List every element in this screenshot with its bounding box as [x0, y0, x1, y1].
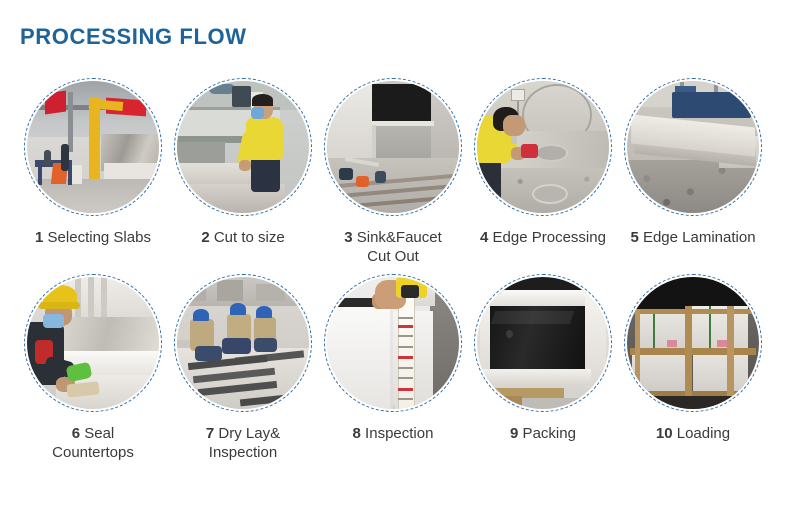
flow-step-1[interactable]: 1 Selecting Slabs	[18, 78, 168, 247]
step-4-label: 4 Edge Processing	[480, 228, 606, 247]
page-title: PROCESSING FLOW	[20, 26, 247, 48]
dry-lay-inspection-photo	[177, 277, 309, 409]
loading-photo	[627, 277, 759, 409]
step-number: 6	[72, 425, 80, 442]
step-number: 8	[353, 425, 361, 442]
step-10-circle[interactable]	[624, 274, 762, 412]
step-6-label: 6 SealCountertops	[52, 424, 134, 462]
step-number: 9	[510, 425, 518, 442]
flow-step-4[interactable]: 4 Edge Processing	[468, 78, 618, 247]
step-9-label: 9 Packing	[510, 424, 576, 443]
step-7-label: 7 Dry Lay&Inspection	[206, 424, 280, 462]
sink-faucet-cutout-photo	[327, 81, 459, 213]
step-number: 7	[206, 425, 214, 442]
flow-step-9[interactable]: 9 Packing	[468, 274, 618, 443]
step-1-circle[interactable]	[24, 78, 162, 216]
inspection-photo	[327, 277, 459, 409]
step-1-label: 1 Selecting Slabs	[35, 228, 151, 247]
step-number: 5	[630, 229, 638, 246]
flow-step-10[interactable]: 10 Loading	[618, 274, 768, 443]
step-number: 4	[480, 229, 488, 246]
step-5-label: 5 Edge Lamination	[630, 228, 755, 247]
flow-step-6[interactable]: 6 SealCountertops	[18, 274, 168, 462]
step-5-circle[interactable]	[624, 78, 762, 216]
edge-processing-photo	[477, 81, 609, 213]
step-8-label: 8 Inspection	[353, 424, 434, 443]
step-number: 10	[656, 425, 673, 442]
seal-countertops-photo	[27, 277, 159, 409]
step-10-label: 10 Loading	[656, 424, 730, 443]
flow-step-2[interactable]: 2 Cut to size	[168, 78, 318, 247]
step-3-circle[interactable]	[324, 78, 462, 216]
cut-to-size-photo	[177, 81, 309, 213]
packing-photo	[477, 277, 609, 409]
flow-row-1: 1 Selecting Slabs 2 Cut to size	[0, 78, 790, 266]
step-7-circle[interactable]	[174, 274, 312, 412]
flow-row-2: 6 SealCountertops	[0, 274, 790, 462]
step-2-circle[interactable]	[174, 78, 312, 216]
edge-lamination-photo	[627, 81, 759, 213]
step-number: 1	[35, 229, 43, 246]
step-8-circle[interactable]	[324, 274, 462, 412]
step-2-label: 2 Cut to size	[201, 228, 284, 247]
step-3-label: 3 Sink&FaucetCut Out	[344, 228, 442, 266]
processing-flow-grid: 1 Selecting Slabs 2 Cut to size	[0, 78, 790, 462]
flow-step-3[interactable]: 3 Sink&FaucetCut Out	[318, 78, 468, 266]
step-number: 3	[344, 229, 352, 246]
step-6-circle[interactable]	[24, 274, 162, 412]
flow-step-5[interactable]: 5 Edge Lamination	[618, 78, 768, 247]
selecting-slabs-photo	[27, 81, 159, 213]
step-number: 2	[201, 229, 209, 246]
step-9-circle[interactable]	[474, 274, 612, 412]
flow-step-8[interactable]: 8 Inspection	[318, 274, 468, 443]
step-4-circle[interactable]	[474, 78, 612, 216]
flow-step-7[interactable]: 7 Dry Lay&Inspection	[168, 274, 318, 462]
